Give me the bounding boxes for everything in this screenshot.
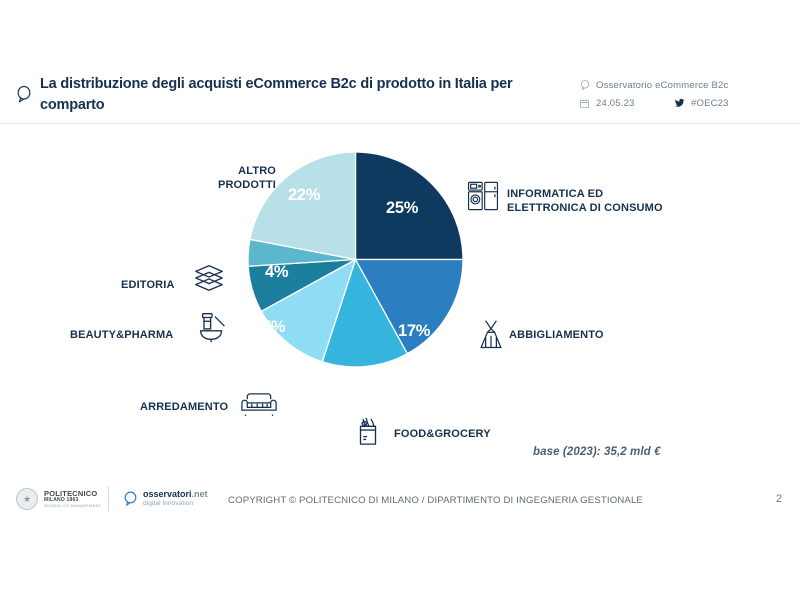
hashtag-group[interactable]: #OEC23 [673,97,729,110]
osservatori-name-row: osservatori.net [143,490,208,500]
osservatori-tagline: digital innovation [143,500,208,507]
source-label: Osservatorio eCommerce B2c [596,80,728,91]
grocery-bag-icon [353,415,383,452]
mortar-pestle-icon [194,308,232,351]
header-meta: Osservatorio eCommerce B2c 24.05.23 [578,76,788,112]
osservatori-name: osservatori [143,489,192,499]
slide-header: La distribuzione degli acquisti eCommerc… [0,62,800,124]
pie-label-altro-prodotti: ALTRO PRODOTTI [186,165,276,193]
pie-slice-informatica[interactable] [356,152,464,260]
speech-bubble-icon [578,79,591,92]
pie-label-editoria: EDITORIA [121,279,175,293]
osservatori-text: osservatori.net digital innovation [143,490,208,507]
osservatori-logo: osservatori.net digital innovation [122,490,208,507]
pie-label-informatica: INFORMATICA ED ELETTRONICA DI CONSUMO [507,188,663,216]
polimi-line3: SCHOOL OF MANAGEMENT [44,504,101,509]
pie-label-abbigliamento: ABBIGLIAMENTO [509,329,604,343]
date-group: 24.05.23 [578,97,673,110]
page-title: La distribuzione degli acquisti eCommerc… [40,74,570,115]
slide: La distribuzione degli acquisti eCommerc… [0,0,800,600]
date-label: 24.05.23 [596,98,635,109]
pie-label-altro-line1: ALTRO [238,165,276,177]
slide-footer: ★ POLITECNICO MILANO 1863 SCHOOL OF MANA… [0,476,800,536]
pie-label-informatica-line2: ELETTRONICA DI CONSUMO [507,202,663,214]
pie-chart [248,152,463,367]
footer-divider [108,486,109,512]
polimi-seal-icon: ★ [16,488,38,510]
osservatori-suffix: .net [192,489,208,499]
appliances-icon [466,179,500,218]
speech-bubble-icon [122,490,139,507]
politecnico-logo: ★ POLITECNICO MILANO 1863 SCHOOL OF MANA… [16,488,101,510]
copyright-text: COPYRIGHT © POLITECNICO DI MILANO / DIPA… [228,495,643,506]
calendar-icon [578,97,591,110]
date-hashtag-row: 24.05.23 #OEC23 [578,94,788,112]
armchair-icon [241,388,277,421]
politecnico-text: POLITECNICO MILANO 1863 SCHOOL OF MANAGE… [44,490,101,509]
pie-label-beauty-pharma: BEAUTY&PHARMA [70,329,173,343]
pie-label-food-grocery: FOOD&GROCERY [394,428,491,442]
books-icon [190,261,228,300]
hashtag-label: #OEC23 [691,98,729,109]
speech-bubble-icon [14,84,34,104]
dress-icon [477,318,505,357]
base-note: base (2023): 35,2 mld € [533,446,661,458]
pie-label-arredamento: ARREDAMENTO [140,401,228,415]
page-number: 2 [776,493,782,505]
source-row: Osservatorio eCommerce B2c [578,76,788,94]
pie-label-altro-line2: PRODOTTI [218,179,276,191]
pie-value-food-grocery: 13% [346,374,378,393]
twitter-icon [673,97,686,110]
chart-area: 25% 17% 13% 12% 7% 4% 22% INFORMATICA ED… [0,124,800,474]
pie-label-informatica-line1: INFORMATICA ED [507,188,603,200]
